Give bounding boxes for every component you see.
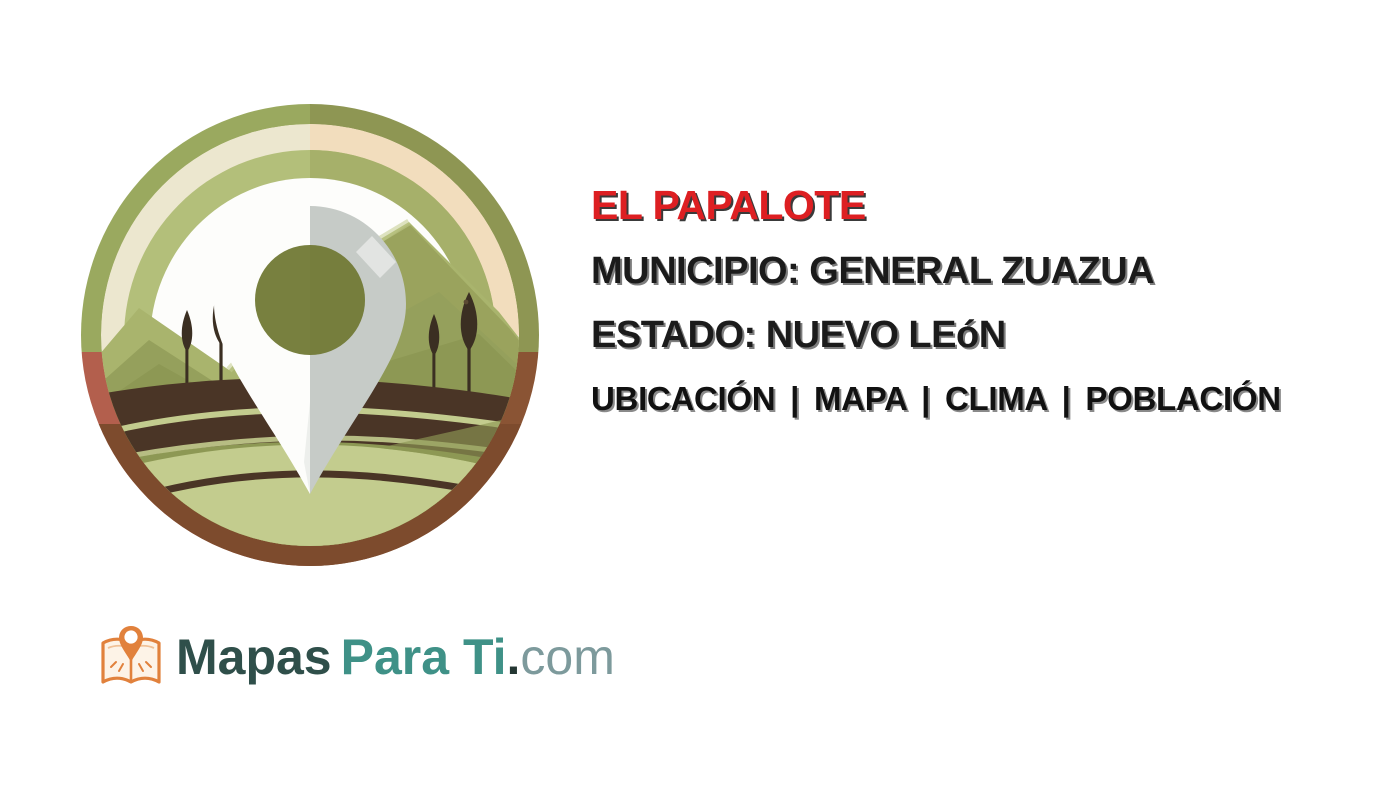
brand-word-dot: . [506, 629, 520, 685]
place-info-block: EL PAPALOTE MUNICIPIO: GENERAL ZUAZUA ES… [591, 185, 1391, 415]
estado-line: ESTADO: NUEVO LEóN [591, 316, 1391, 354]
page-root: EL PAPALOTE MUNICIPIO: GENERAL ZUAZUA ES… [0, 0, 1400, 786]
site-brand-logo[interactable]: MapasPara Ti.com [98, 617, 615, 697]
emblem-speck [464, 300, 469, 305]
nav-link-mapa[interactable]: MAPA [814, 380, 906, 417]
open-book-map-pin-icon [98, 622, 164, 692]
nav-separator-1: | [784, 380, 805, 417]
rural-landscape-map-pin-emblem [79, 102, 541, 568]
nav-separator-2: | [915, 380, 936, 417]
nav-link-ubicacion[interactable]: UBICACIÓN [591, 380, 775, 417]
brand-word-parati: Para Ti [341, 629, 507, 685]
brand-wordmark: MapasPara Ti.com [176, 632, 615, 682]
municipio-line: MUNICIPIO: GENERAL ZUAZUA [591, 252, 1391, 290]
nav-link-clima[interactable]: CLIMA [945, 380, 1047, 417]
brand-word-mapas: Mapas [176, 629, 332, 685]
page-title: EL PAPALOTE [591, 185, 1391, 226]
section-links-nav: UBICACIÓN | MAPA | CLIMA | POBLACIÓN [591, 382, 1391, 415]
nav-separator-3: | [1056, 380, 1077, 417]
brand-word-com: com [520, 629, 614, 685]
nav-link-poblacion[interactable]: POBLACIÓN [1085, 380, 1280, 417]
